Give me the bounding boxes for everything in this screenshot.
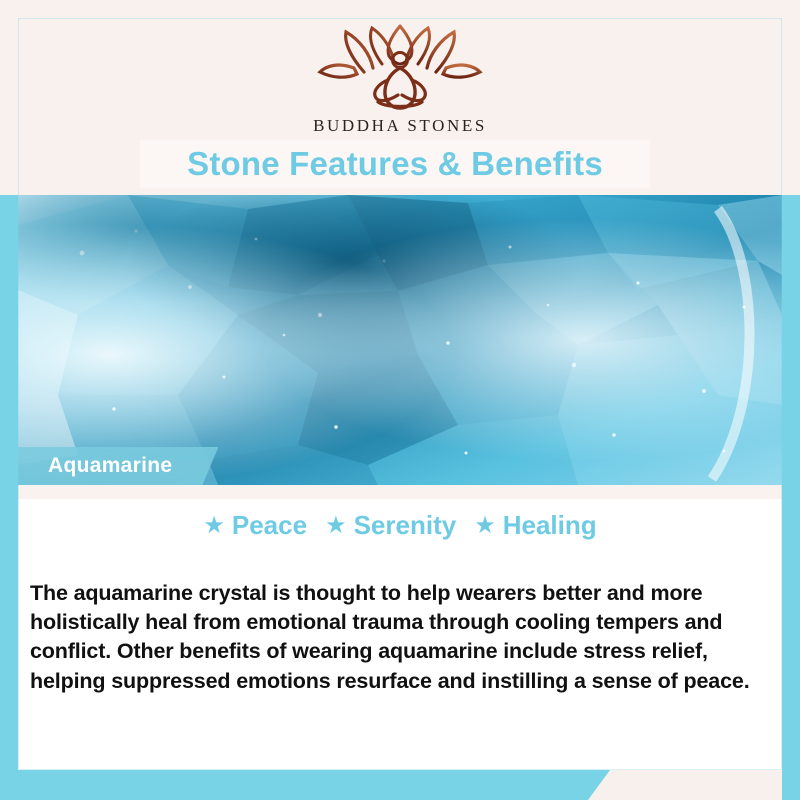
hero-image: Aquamarine [18, 195, 782, 485]
frame-corner-bottom-right [782, 770, 800, 800]
stone-name-tag: Aquamarine [18, 447, 218, 485]
keyword-healing: ★ Healing [474, 510, 596, 541]
keyword-label: Healing [503, 510, 597, 541]
keyword-label: Peace [232, 510, 307, 541]
brand-logo: BUDDHA STONES [0, 22, 800, 136]
content-top-fade [18, 485, 782, 499]
keyword-serenity: ★ Serenity [325, 510, 456, 541]
brand-wordmark: BUDDHA STONES [0, 116, 800, 136]
star-icon: ★ [203, 514, 225, 538]
content-panel: ★ Peace ★ Serenity ★ Healing The aquamar… [18, 485, 782, 770]
lotus-meditation-figure-icon [310, 22, 490, 114]
star-icon: ★ [474, 514, 496, 538]
stone-name-label: Aquamarine [48, 454, 172, 478]
keyword-peace: ★ Peace [203, 510, 307, 541]
keyword-label: Serenity [354, 510, 457, 541]
poster-canvas: BUDDHA STONES Stone Features & Benefits [0, 0, 800, 800]
title-banner: Stone Features & Benefits [140, 140, 650, 188]
page-title: Stone Features & Benefits [187, 145, 603, 183]
frame-band-bottom [0, 770, 610, 800]
frame-band-left [0, 190, 18, 800]
star-icon: ★ [325, 514, 347, 538]
keyword-row: ★ Peace ★ Serenity ★ Healing [18, 510, 782, 541]
aquamarine-crystal-photo [18, 195, 782, 485]
poster-header: BUDDHA STONES Stone Features & Benefits [0, 0, 800, 195]
description-paragraph: The aquamarine crystal is thought to hel… [30, 579, 770, 697]
